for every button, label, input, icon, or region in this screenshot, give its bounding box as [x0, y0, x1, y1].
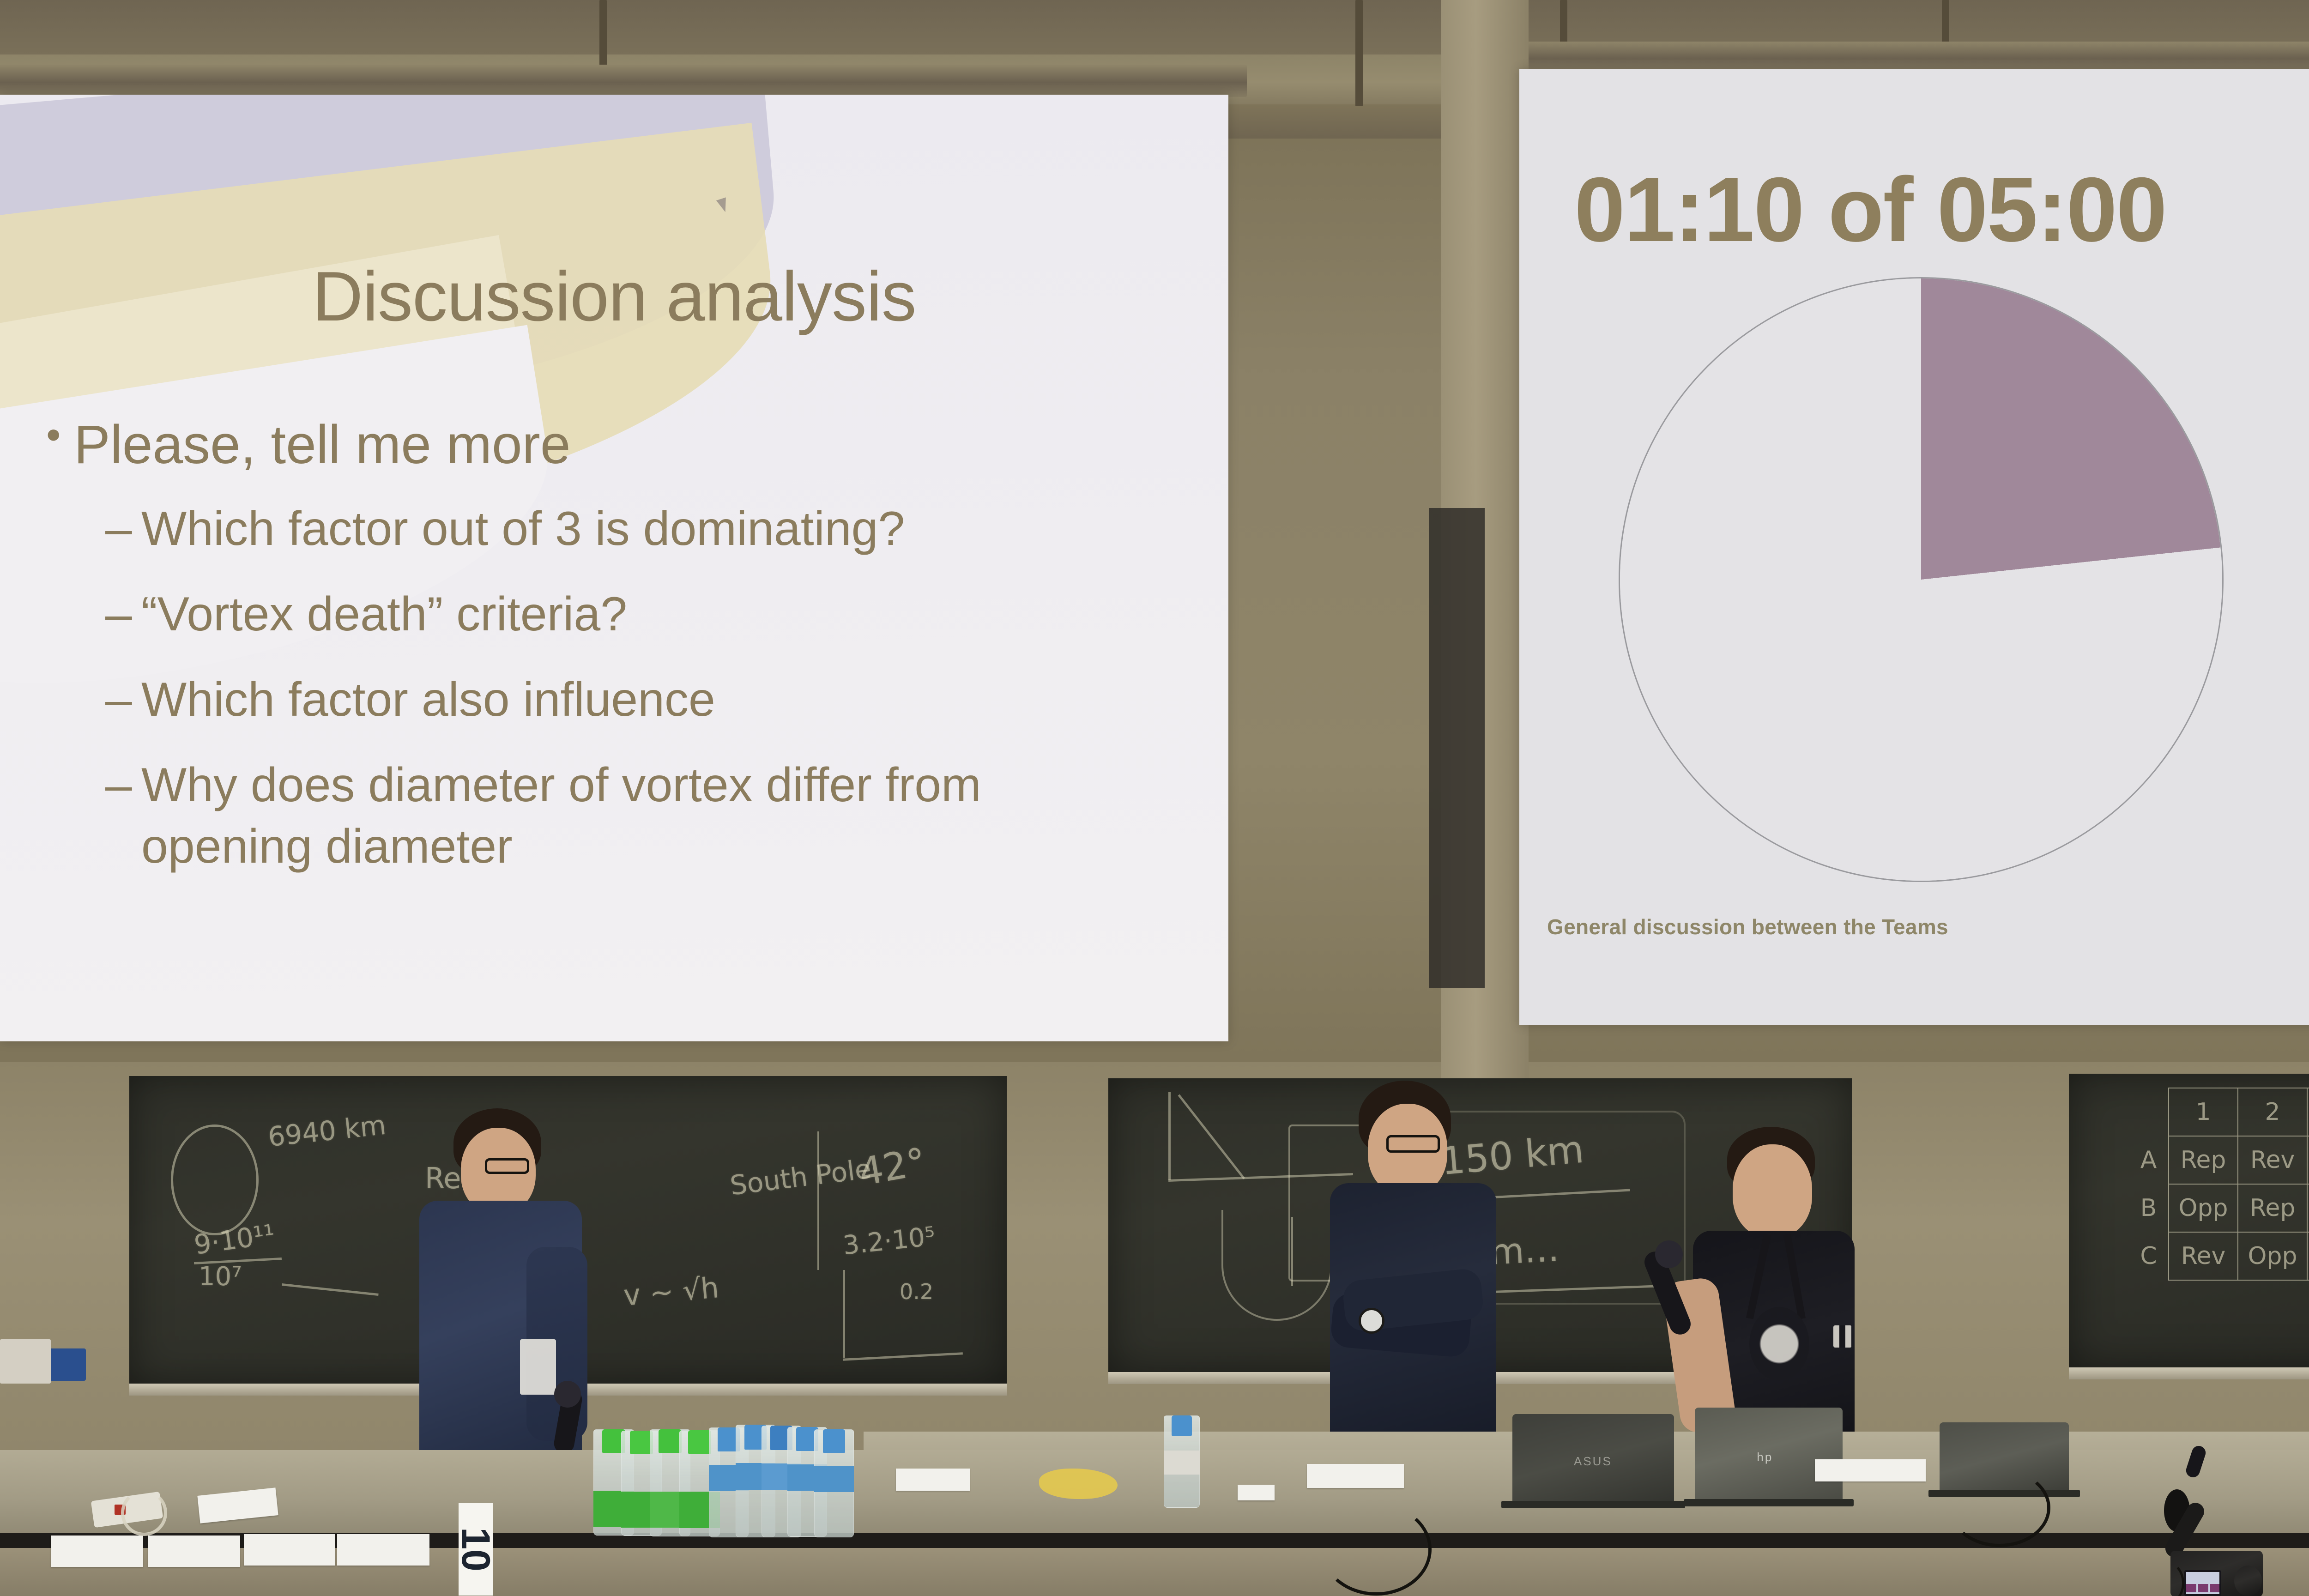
screen-roller-right — [1510, 42, 2309, 72]
chalk-note-denominator: 10⁷ — [199, 1262, 242, 1292]
right-chalkboard: 123ARepRevOppBOppRepRevCRevOppRep — [2069, 1074, 2309, 1369]
table-cell: Opp — [2169, 1184, 2238, 1232]
chalk-note-velocity-root: v ~ √h — [622, 1270, 720, 1312]
lcd-indicator — [2210, 1584, 2220, 1592]
bottle-cap — [688, 1430, 711, 1454]
lcd-indicator — [2198, 1584, 2208, 1592]
bullet-main: Please, tell me more — [46, 413, 1201, 476]
lcd-indicator — [2186, 1584, 2196, 1592]
cardboard-box — [0, 1339, 51, 1384]
camera-lcd-screen — [2184, 1570, 2221, 1596]
chalk-circle-sketch — [171, 1124, 259, 1235]
table-row: BOppRepRev — [2129, 1184, 2309, 1232]
timer-caption: General discussion between the Teams — [1547, 914, 1948, 939]
sub-bullet-3: Which factor also influence — [105, 669, 1201, 731]
paper-sheet — [1307, 1464, 1404, 1488]
chalk-axis-horizontal — [843, 1352, 963, 1361]
table-row: ARepRevOpp — [2129, 1136, 2309, 1184]
table-col-header: 2 — [2238, 1088, 2307, 1136]
sub-bullet-1: Which factor out of 3 is dominating? — [105, 498, 1201, 560]
score-card: 10 — [459, 1503, 493, 1596]
sub-bullet-4: Why does diameter of vortex differ from … — [105, 755, 1010, 877]
bottle-cap — [659, 1429, 681, 1453]
table-row: CRevOppRep — [2129, 1232, 2309, 1280]
table-row-label: C — [2129, 1232, 2169, 1280]
name-badge — [520, 1339, 556, 1395]
video-camera — [2120, 1492, 2309, 1596]
paper-sheet — [896, 1469, 970, 1491]
pie-slice-elapsed — [1620, 278, 2222, 881]
sub-bullet-2: “Vortex death” criteria? — [105, 584, 1201, 645]
cable-loop — [1949, 1469, 2050, 1547]
table-row-label: A — [2129, 1136, 2169, 1184]
chalk-note-value: 0.2 — [900, 1279, 933, 1304]
chalk-note-degrees: 42° — [856, 1140, 930, 1195]
cable-loop — [1321, 1503, 1432, 1596]
bottle-label — [1164, 1451, 1200, 1475]
camera-lens-hood — [2234, 1566, 2262, 1596]
chalk-axis-vertical — [843, 1270, 845, 1358]
chalk-note-southpole: South Pole — [728, 1153, 873, 1202]
laptop-hp[interactable]: hp — [1695, 1408, 1843, 1500]
microphone-head-icon — [554, 1381, 581, 1408]
table-cell: Rev — [2307, 1184, 2309, 1232]
wristwatch — [1359, 1308, 1384, 1334]
flag-patch — [1833, 1325, 1852, 1348]
projection-screen-left: Discussion analysis Please, tell me more… — [0, 95, 1228, 1041]
table-cell: Rev — [2169, 1232, 2238, 1280]
bottle-cap — [823, 1429, 845, 1453]
cable-loop — [121, 1490, 167, 1536]
tshirt-print — [1749, 1307, 1809, 1381]
table-cell: Rep — [2238, 1184, 2307, 1232]
laptop-base — [1684, 1499, 1854, 1506]
chalk-note-sci-notation: 3.2·10⁵ — [841, 1221, 937, 1261]
fight-rotation-table: 123ARepRevOppBOppRepRevCRevOppRep — [2129, 1088, 2309, 1281]
laptop-brand-label: hp — [1757, 1450, 1773, 1464]
paper-sheet — [148, 1536, 240, 1567]
laptop-base — [1501, 1501, 1685, 1508]
table-cell: Rev — [2238, 1136, 2307, 1184]
chalk-note-distance: 6940 km — [266, 1109, 387, 1153]
laptop-brand-label: ASUS — [1574, 1454, 1612, 1469]
table-col-header — [2129, 1088, 2169, 1136]
chalk-divider — [817, 1131, 819, 1270]
projection-screen-right: 01:10 of 05:00 General discussion betwee… — [1519, 69, 2309, 1025]
slide-bullet-list: Please, tell me more Which factor out of… — [46, 413, 1201, 902]
ceiling-hook — [1355, 0, 1363, 106]
timer-pie-chart — [1619, 277, 2251, 882]
table-col-header: 1 — [2169, 1088, 2238, 1136]
bottle-cap — [1172, 1415, 1192, 1436]
glasses — [1386, 1135, 1440, 1153]
table-cell: Rep — [2307, 1232, 2309, 1280]
screen-roller-left — [0, 65, 1247, 97]
bottle-label — [814, 1466, 854, 1492]
chalk-graph-y-axis — [1168, 1092, 1171, 1180]
table-row-label: B — [2129, 1184, 2169, 1232]
paper-sheet — [1238, 1485, 1275, 1500]
table-cell: Opp — [2307, 1136, 2309, 1184]
table-cell: Rep — [2169, 1136, 2238, 1184]
paper-sheet — [51, 1536, 143, 1567]
head — [1733, 1144, 1812, 1238]
pillar-shadow — [1429, 508, 1485, 988]
water-bottle — [814, 1429, 854, 1537]
paper-sheet — [1815, 1459, 1926, 1481]
laptop-asus[interactable]: ASUS — [1512, 1414, 1674, 1502]
paper-sheet — [337, 1534, 429, 1566]
right-chalk-ledge — [2069, 1367, 2309, 1379]
table-cell: Opp — [2238, 1232, 2307, 1280]
lecture-hall-scene: Discussion analysis Please, tell me more… — [0, 0, 2309, 1596]
microphone-head-icon — [1655, 1240, 1683, 1268]
chalk-underline — [282, 1283, 378, 1296]
water-bottle-single — [1164, 1415, 1200, 1508]
slide-title: Discussion analysis — [0, 256, 1228, 337]
countdown-timer-text: 01:10 of 05:00 — [1519, 157, 2221, 262]
glasses — [485, 1158, 529, 1174]
table-col-header: 3 — [2307, 1088, 2309, 1136]
paper-sheet — [244, 1534, 335, 1566]
chalk-graph-diagonal — [1178, 1094, 1245, 1179]
